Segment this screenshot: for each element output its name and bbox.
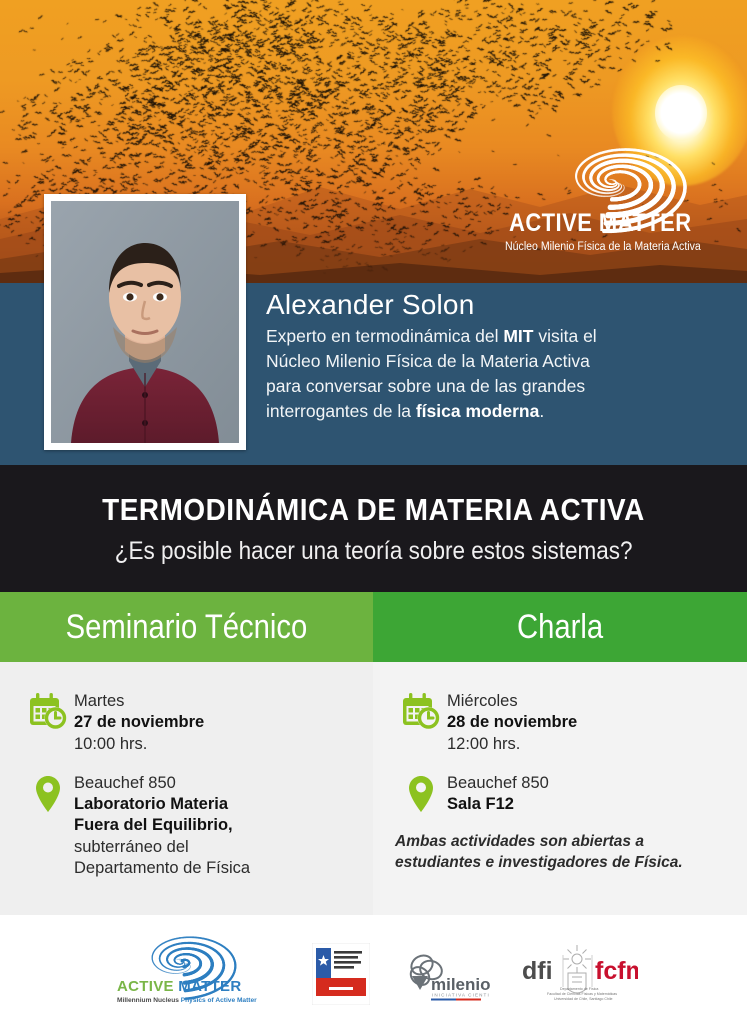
calendar-clock-icon (22, 690, 74, 730)
avatar (51, 201, 239, 443)
desc-line1-c: visita el (533, 326, 596, 346)
ribbon-left-shape (0, 592, 373, 672)
location-text: Beauchef 850 Laboratorio Materia Fuera d… (74, 772, 250, 879)
event-note: Ambas actividades son abiertas a estudia… (395, 832, 725, 873)
desc-fisica-moderna: física moderna (416, 401, 540, 421)
page-title: TERMODINÁMICA DE MATERIA ACTIVA (102, 492, 645, 528)
speaker-name: Alexander Solon (266, 289, 728, 321)
event-date: 28 de noviembre (447, 713, 577, 731)
event-venue-4: Departamento de Física (74, 859, 250, 877)
event-time: 12:00 hrs. (447, 735, 520, 753)
logo-word-active: ACTIVE (117, 978, 174, 995)
milenio-logo: milenio INICIATIVA CIENTIFICA (398, 946, 490, 1002)
location-row: Beauchef 850 Sala F12 (395, 772, 725, 816)
event-venue-2: Fuera del Equilibrio, (74, 816, 233, 834)
title-band: TERMODINÁMICA DE MATERIA ACTIVA ¿Es posi… (0, 465, 747, 592)
event-date: 27 de noviembre (74, 713, 204, 731)
active-matter-subtitle: Núcleo Milenio Física de la Materia Acti… (505, 241, 689, 253)
date-text: Martes 27 de noviembre 10:00 hrs. (74, 690, 204, 755)
desc-line1-a: Experto en termodinámica del (266, 326, 503, 346)
map-pin-icon (22, 772, 74, 814)
poster: ACTIVE MATTER Núcleo Milenio Física de l… (0, 0, 747, 1024)
location-row: Beauchef 850 Laboratorio Materia Fuera d… (22, 772, 351, 879)
logo-tagline-blue: Physics of Active Matter (181, 997, 257, 1004)
desc-line4-a: interrogantes de la (266, 401, 416, 421)
event-time: 10:00 hrs. (74, 735, 147, 753)
desc-mit: MIT (503, 326, 533, 346)
note-line-1: Ambas actividades son abiertas a (395, 833, 644, 850)
sponsor-logos: ACTIVE MATTER Millennium Nucleus Physics… (0, 929, 747, 1019)
event-column-charla: Miércoles 28 de noviembre 12:00 hrs. Bea… (373, 662, 747, 915)
logo-tagline-gray: Millennium Nucleus (117, 997, 181, 1004)
footer: ACTIVE MATTER Millennium Nucleus Physics… (0, 915, 747, 1024)
desc-line2: Núcleo Milenio Física de la Materia Acti… (266, 351, 590, 371)
event-address: Beauchef 850 (74, 774, 176, 792)
ribbon-right-shape (373, 592, 747, 672)
event-day: Martes (74, 692, 124, 710)
event-venue-1: Laboratorio Materia (74, 795, 228, 813)
active-matter-wordmark: ACTIVE MATTER Núcleo Milenio Física de l… (497, 209, 697, 253)
event-address: Beauchef 850 (447, 774, 549, 792)
calendar-clock-icon (395, 690, 447, 730)
desc-line4-c: . (539, 401, 544, 421)
event-day: Miércoles (447, 692, 518, 710)
speaker-photo-frame (44, 194, 246, 450)
date-text: Miércoles 28 de noviembre 12:00 hrs. (447, 690, 577, 755)
note-line-2: estudiantes e investigadores de Física. (395, 854, 683, 871)
dfi-fcfm-logo: dfi fcfm Departamento de Física Facultad… (518, 943, 638, 1005)
location-text: Beauchef 850 Sala F12 (447, 772, 549, 816)
event-venue-1: Sala F12 (447, 795, 514, 813)
logo-word-matter: MATTER (174, 978, 242, 995)
speaker-description: Experto en termodinámica del MIT visita … (266, 324, 728, 424)
map-pin-icon (395, 772, 447, 814)
active-matter-logo: ACTIVE MATTER Millennium Nucleus Physics… (109, 936, 284, 1012)
speaker-info: Alexander Solon Experto en termodinámica… (266, 289, 728, 424)
desc-line3: para conversar sobre una de las grandes (266, 376, 585, 396)
date-row: Martes 27 de noviembre 10:00 hrs. (22, 690, 351, 755)
date-row: Miércoles 28 de noviembre 12:00 hrs. (395, 690, 725, 755)
event-details: Martes 27 de noviembre 10:00 hrs. Beauch… (0, 662, 747, 915)
event-column-seminario: Martes 27 de noviembre 10:00 hrs. Beauch… (0, 662, 373, 915)
page-subtitle: ¿Es posible hacer una teoría sobre estos… (115, 537, 633, 566)
gobierno-de-chile-logo (312, 943, 370, 1005)
event-venue-3: subterráneo del (74, 838, 189, 856)
active-matter-title: ACTIVE MATTER (509, 209, 685, 238)
